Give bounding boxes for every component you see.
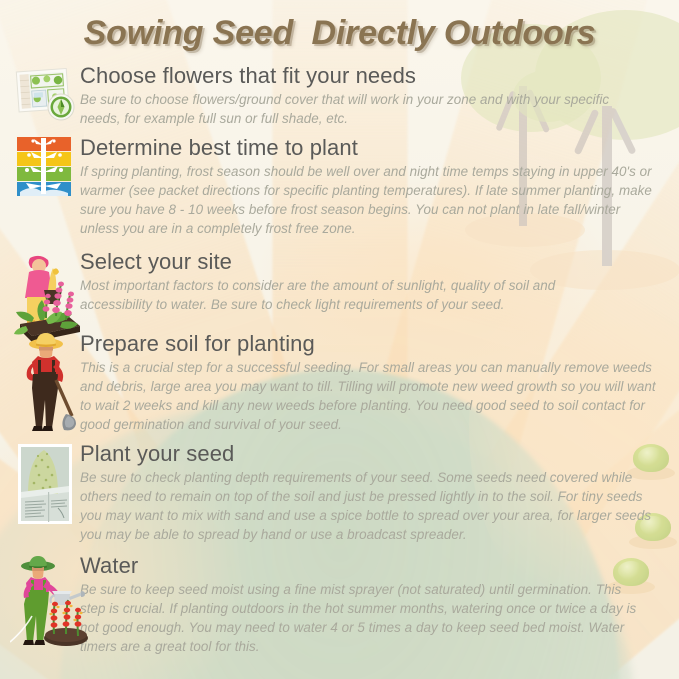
step-text: Water Be sure to keep seed moist using a… [80,554,646,656]
gardener-watering-icon [10,554,88,646]
step-text: Prepare soil for planting This is a cruc… [80,332,666,434]
gardener-with-flowers-icon [12,250,82,342]
step-text: Select your site Most important factors … [80,250,606,314]
step-body: If spring planting, frost season should … [80,162,658,238]
step-title: Plant your seed [80,442,660,467]
page-title: Sowing Seed Directly Outdoors [0,14,679,53]
step-text: Determine best time to plant If spring p… [80,136,664,238]
four-seasons-icon [16,136,72,198]
step-water: Water Be sure to keep seed moist using a… [0,554,679,656]
step-text: Choose flowers that fit your needs Be su… [80,64,654,128]
step-body: Be sure to choose flowers/ground cover t… [80,90,648,128]
seed-packet-icon [14,442,76,526]
step-title: Determine best time to plant [80,136,658,161]
infographic-poster: Sowing Seed Directly Outdoors [0,0,679,679]
step-title: Choose flowers that fit your needs [80,64,648,89]
step-text: Plant your seed Be sure to check plantin… [80,442,666,544]
step-prepare-soil: Prepare soil for planting This is a cruc… [0,332,679,434]
step-body: Be sure to keep seed moist using a fine … [80,580,640,656]
step-determine-time: Determine best time to plant If spring p… [0,136,679,238]
step-body: Be sure to check planting depth requirem… [80,468,660,544]
step-select-site: Select your site Most important factors … [0,250,679,314]
step-body: Most important factors to consider are t… [80,276,600,314]
step-title: Prepare soil for planting [80,332,660,357]
garden-plan-compass-icon [14,66,78,124]
gardener-with-shovel-icon [16,332,80,432]
step-plant-seed: Plant your seed Be sure to check plantin… [0,442,679,544]
step-choose-flowers: Choose flowers that fit your needs Be su… [0,64,679,128]
step-body: This is a crucial step for a successful … [80,358,660,434]
step-title: Water [80,554,640,579]
step-title: Select your site [80,250,600,275]
